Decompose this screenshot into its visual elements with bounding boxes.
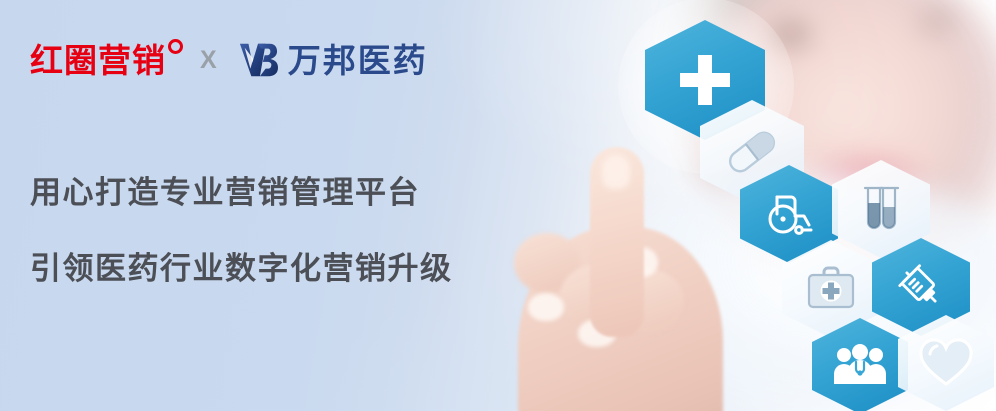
syringe-icon (893, 259, 949, 315)
logo-lockup: 红圈营销 X 万邦医药 (30, 32, 428, 88)
first-aid-kit-icon (803, 261, 859, 317)
heart-icon (917, 334, 975, 392)
test-tubes-icon (853, 181, 909, 237)
medical-team-icon (832, 338, 888, 394)
headline-line-2: 引领医药行业数字化营销升级 (30, 254, 550, 285)
index-finger (590, 147, 644, 337)
fingernail (528, 293, 564, 321)
brand-logo-partner-text: 万邦医药 (288, 44, 428, 77)
brand-logo-partner[interactable]: 万邦医药 (237, 40, 428, 80)
degree-circle-icon (168, 39, 183, 54)
wheelchair-icon (761, 186, 817, 242)
headline-block: 用心打造专业营销管理平台 引领医药行业数字化营销升级 (30, 178, 550, 285)
brand-logo-primary-text: 红圈营销 (30, 41, 166, 80)
promo-banner: 红圈营销 X 万邦医药 用心打造专业营销管理平台 引领医 (0, 0, 996, 411)
brand-logo-primary[interactable]: 红圈营销 (30, 44, 166, 77)
medical-cross-icon (674, 49, 736, 111)
wb-monogram-icon (237, 40, 279, 80)
logo-separator: X (200, 46, 217, 75)
headline-line-1: 用心打造专业营销管理平台 (30, 178, 550, 209)
